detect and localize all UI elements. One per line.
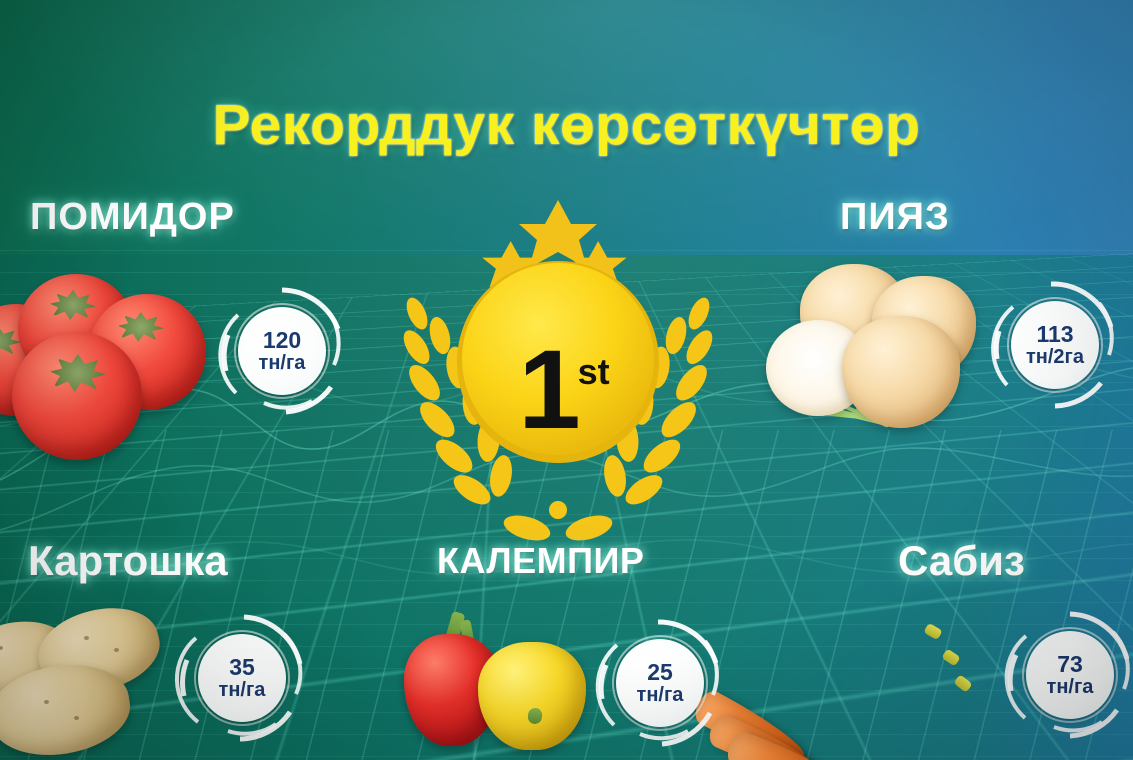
badge-text: 73 тн/га	[1026, 631, 1114, 719]
crop-label-potato: Картошка	[28, 537, 228, 585]
yield-unit: тн/га	[1047, 677, 1094, 698]
badge-text: 120 тн/га	[238, 307, 326, 395]
infographic-poster: 1 st Рекорддук көрсөткүчтөр ПОМИДОР ПИЯЗ…	[0, 0, 1133, 760]
yield-badge-onion: 113 тн/2га	[985, 275, 1125, 415]
yield-badge-pepper: 25 тн/га	[590, 613, 730, 753]
badge-text: 113 тн/2га	[1011, 301, 1099, 389]
crop-label-carrot: Сабиз	[898, 537, 1025, 585]
crop-label-tomato: ПОМИДОР	[30, 196, 235, 239]
first-place-laurel-medal: 1 st	[398, 196, 718, 546]
badge-text: 35 тн/га	[198, 634, 286, 722]
yield-value: 73	[1057, 652, 1083, 676]
yield-value: 120	[263, 328, 301, 352]
yield-badge-tomato: 120 тн/га	[212, 281, 352, 421]
yield-value: 113	[1036, 322, 1073, 346]
yield-badge-potato: 35 тн/га	[172, 608, 312, 748]
yield-value: 25	[647, 660, 673, 684]
crop-label-onion: ПИЯЗ	[840, 196, 950, 239]
crop-label-pepper: КАЛЕМПИР	[437, 540, 644, 582]
page-title: Рекорддук көрсөткүчтөр	[0, 92, 1133, 158]
yield-unit: тн/га	[259, 353, 306, 374]
yield-value: 35	[229, 655, 255, 679]
badge-text: 25 тн/га	[616, 639, 704, 727]
yield-unit: тн/га	[219, 680, 266, 701]
yield-badge-carrot: 73 тн/га	[1000, 605, 1133, 745]
yield-unit: тн/га	[637, 685, 684, 706]
laurel-wreath-icon	[398, 196, 718, 546]
yield-unit: тн/2га	[1026, 347, 1084, 368]
